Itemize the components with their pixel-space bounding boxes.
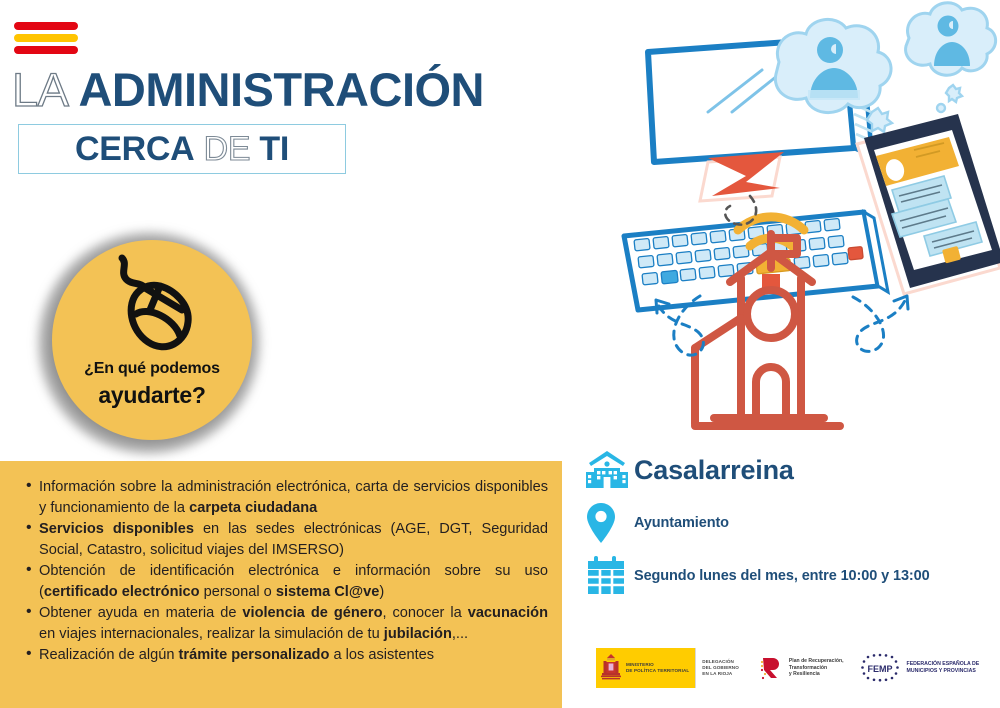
list-item-highlight: vacunación bbox=[468, 605, 548, 621]
footer-logos: MINISTERIO DE POLÍTICA TERRITORIAL DELEG… bbox=[596, 648, 979, 688]
subtitle-word-ti: TI bbox=[259, 130, 289, 168]
list-item-text: personal o bbox=[200, 584, 276, 600]
help-badge: ¿En qué podemos ayudarte? bbox=[52, 240, 252, 440]
cloud-user-icon bbox=[775, 19, 891, 112]
digital-administration-illustration bbox=[604, 0, 1000, 450]
list-item-highlight: violencia de género bbox=[242, 605, 382, 621]
femp-line-1: FEDERACIÓN ESPAÑOLA DE bbox=[907, 661, 980, 668]
services-panel: Información sobre la administración elec… bbox=[0, 461, 562, 708]
info-row-place: Ayuntamiento bbox=[586, 502, 996, 544]
list-item-highlight: Servicios disponibles bbox=[39, 521, 194, 537]
flag-bar-red-bottom bbox=[14, 46, 78, 54]
list-item-text: , conocer la bbox=[382, 605, 467, 621]
subtitle-word-de: DE bbox=[204, 130, 251, 168]
list-item-text: ,... bbox=[452, 626, 468, 642]
list-item-highlight: jubilación bbox=[384, 626, 452, 642]
list-item-text: Obtener ayuda en materia de bbox=[39, 605, 242, 621]
dashed-curved-arrow-icon-right bbox=[853, 296, 907, 351]
list-item-highlight: trámite personalizado bbox=[179, 647, 330, 663]
femp-stars-logo-icon: FEMP bbox=[858, 653, 902, 683]
list-item-text: a los asistentes bbox=[329, 647, 434, 663]
prtr-line-3: y Resiliencia bbox=[789, 671, 844, 678]
info-row-town: Casalarreina bbox=[586, 450, 996, 490]
list-item-text: Realización de algún bbox=[39, 647, 179, 663]
spain-coat-of-arms-icon bbox=[600, 653, 622, 683]
femp-logo: FEMP FEDERACIÓN ESPAÑOLA DE MUNICIPIOS Y… bbox=[858, 653, 980, 683]
badge-line-2: ayudarte? bbox=[98, 382, 205, 409]
cloud-user-icon-2 bbox=[906, 3, 996, 75]
place-name: Ayuntamiento bbox=[634, 515, 729, 531]
flag-bar-yellow bbox=[14, 34, 78, 42]
subtitle-box: CERCA DE TI bbox=[18, 124, 346, 174]
event-info: Casalarreina Ayuntamiento bbox=[586, 450, 996, 608]
list-item-highlight: sistema Cl@ve bbox=[276, 584, 379, 600]
ministry-line-2: DE POLÍTICA TERRITORIAL bbox=[626, 668, 689, 674]
spain-flag-bars-icon bbox=[14, 22, 78, 58]
title-word-la: LA bbox=[12, 63, 66, 116]
town-hall-icon bbox=[586, 450, 634, 490]
list-item-text: en viajes internacionales, realizar la s… bbox=[39, 626, 384, 642]
subtitle-word-cerca: CERCA bbox=[75, 130, 194, 168]
list-item: Información sobre la administración elec… bbox=[26, 477, 548, 518]
list-item: Obtención de identificación electrónica … bbox=[26, 561, 548, 602]
prtr-line-2: Transformación bbox=[789, 665, 844, 672]
prtr-line-1: Plan de Recuperación, bbox=[789, 658, 844, 665]
list-item: Servicios disponibles en las sedes elect… bbox=[26, 519, 548, 560]
page-title: LA ADMINISTRACIÓN bbox=[12, 66, 572, 114]
delegation-line-3: EN LA RIOJA bbox=[702, 671, 739, 677]
prtr-logo: Plan de Recuperación, Transformación y R… bbox=[759, 655, 844, 681]
wifi-base-icon bbox=[762, 274, 780, 288]
svg-text:FEMP: FEMP bbox=[867, 664, 892, 674]
calendar-icon bbox=[586, 556, 634, 596]
badge-line-1: ¿En qué podemos bbox=[84, 360, 220, 378]
ministry-logo: MINISTERIO DE POLÍTICA TERRITORIAL DELEG… bbox=[596, 648, 745, 688]
map-pin-icon bbox=[586, 502, 634, 544]
info-row-schedule: Segundo lunes del mes, entre 10:00 y 13:… bbox=[586, 556, 996, 596]
list-item-highlight: carpeta ciudadana bbox=[189, 500, 317, 516]
schedule-text: Segundo lunes del mes, entre 10:00 y 13:… bbox=[634, 568, 930, 584]
flag-bar-red-top bbox=[14, 22, 78, 30]
list-item-highlight: certificado electrónico bbox=[44, 584, 200, 600]
list-item-text: ) bbox=[379, 584, 384, 600]
computer-mouse-icon bbox=[104, 252, 200, 356]
town-name: Casalarreina bbox=[634, 455, 794, 486]
list-item: Obtener ayuda en materia de violencia de… bbox=[26, 603, 548, 644]
title-word-administracion: ADMINISTRACIÓN bbox=[78, 63, 484, 116]
services-list: Información sobre la administración elec… bbox=[0, 461, 562, 666]
list-item: Realización de algún trámite personaliza… bbox=[26, 645, 548, 666]
femp-line-2: MUNICIPIOS Y PROVINCIAS bbox=[907, 668, 980, 675]
prtr-r-logo-icon bbox=[759, 655, 785, 681]
poster-root: LA ADMINISTRACIÓN CERCA DE TI ¿En qué po… bbox=[0, 0, 1000, 708]
